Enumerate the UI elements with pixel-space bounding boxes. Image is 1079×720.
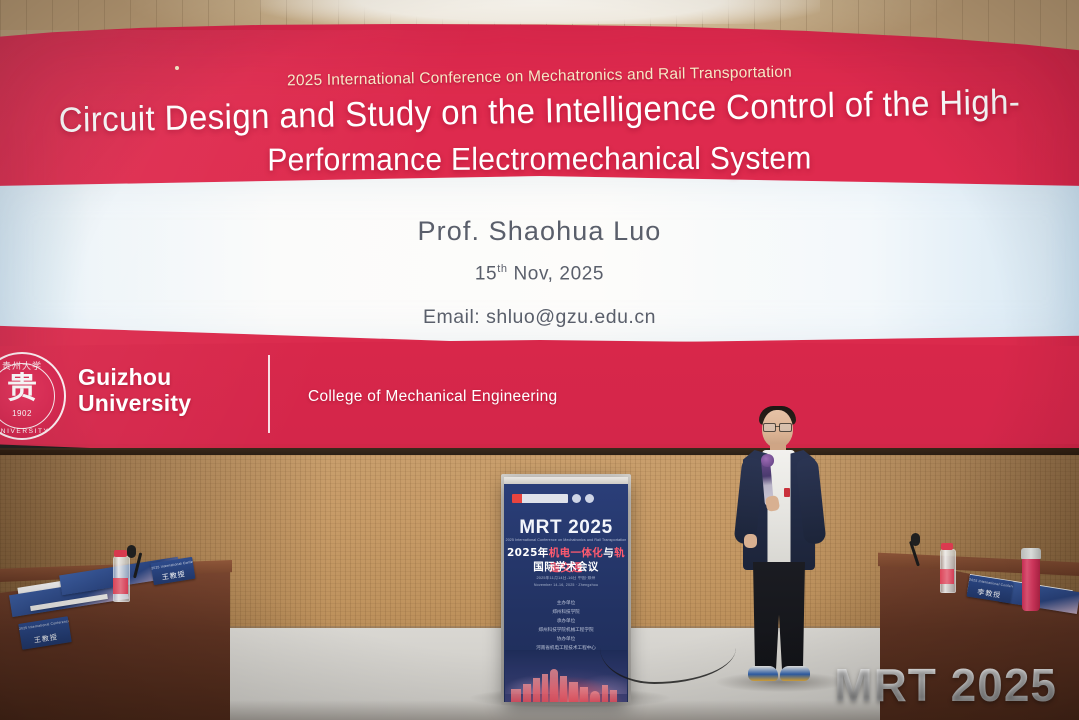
speaker-hand-left — [744, 534, 757, 548]
skyline-building — [602, 685, 608, 702]
podium-organizers: 主办单位 郑州科技学院 承办单位 郑州科技学院机械工程学院 协办单位 河南省机电… — [504, 600, 628, 654]
speaker-person — [726, 404, 830, 694]
organizer-line: 承办单位 — [504, 618, 628, 627]
speaker-shoe-right — [780, 666, 810, 681]
skyline-building — [569, 682, 578, 702]
glasses-bridge — [775, 426, 780, 427]
partner-logo-icon-2 — [585, 494, 594, 503]
skyline-building — [533, 678, 540, 702]
organizer-line: 郑州科技学院 — [504, 609, 628, 618]
right-desk-thermos — [1022, 556, 1040, 611]
left-desk-bottle-label — [113, 578, 128, 594]
podium-logo-row — [512, 492, 620, 504]
podium-cn-year: 2025年 — [507, 547, 549, 559]
right-desk-thermos-cap — [1021, 548, 1041, 559]
skyline-building — [610, 690, 617, 702]
university-name-line-2: University — [78, 391, 268, 417]
podium-chinese-line-2: 国际学术会议 — [504, 559, 628, 574]
seal-arc-text: UNIVERSITY — [0, 428, 64, 435]
glasses-lens-right — [779, 423, 792, 432]
right-desk-microphone-head — [911, 533, 920, 546]
left-desk-microphone-head — [127, 545, 136, 558]
ceiling-center-soffit — [260, 0, 820, 24]
university-name: Guizhou University — [78, 365, 268, 417]
podium-subtitle-english: 2025 International Conference on Mechatr… — [504, 538, 628, 542]
skyline-dome — [590, 691, 600, 702]
organizer-line: 郑州科技学院机械工程学院 — [504, 627, 628, 636]
podium-date-chinese: 2025年11月14日-16日 中国·郑州 — [504, 576, 628, 581]
slide-white-panel — [0, 176, 1079, 344]
skyline-building — [560, 676, 567, 702]
podium-top-bar — [504, 477, 628, 484]
organizer-line: 主办单位 — [504, 600, 628, 609]
speaker-shoe-left — [748, 666, 778, 681]
glasses-lens-left — [763, 423, 776, 432]
speaker-glasses-icon — [763, 423, 792, 430]
speaker-trousers — [753, 562, 805, 672]
seal-character: 贵 — [0, 374, 64, 404]
college-name: College of Mechanical Engineering — [308, 388, 557, 406]
podium-title: MRT 2025 — [504, 517, 628, 539]
skyline-building — [542, 674, 548, 702]
screenshot-root: 2025 International Conference on Mechatr… — [0, 0, 1079, 720]
host-university-logo-icon — [512, 494, 568, 503]
seal-founding-year: 1902 — [0, 409, 64, 418]
skyline-building — [523, 684, 531, 702]
university-name-line-1: Guizhou — [78, 365, 268, 391]
podium-cn-highlight-1: 机电一体化 — [549, 547, 604, 559]
speaker-badge-ribbon — [784, 488, 790, 497]
left-desk-bottle-cap — [114, 550, 127, 557]
right-desk-bottle-label — [940, 569, 954, 584]
podium-cn-conj: 与 — [603, 547, 614, 559]
podium-date-english: November 14-16, 2025 · Zhengzhou — [504, 583, 628, 587]
footer-divider — [268, 355, 270, 433]
partner-logo-icon-1 — [572, 494, 581, 503]
organizer-line: 协办单位 — [504, 636, 628, 645]
skyline-tower — [550, 669, 558, 702]
skyline-building — [580, 687, 588, 702]
event-watermark: MRT 2025 — [834, 658, 1057, 712]
right-desk-bottle-cap — [941, 543, 953, 550]
skyline-building — [511, 689, 521, 702]
